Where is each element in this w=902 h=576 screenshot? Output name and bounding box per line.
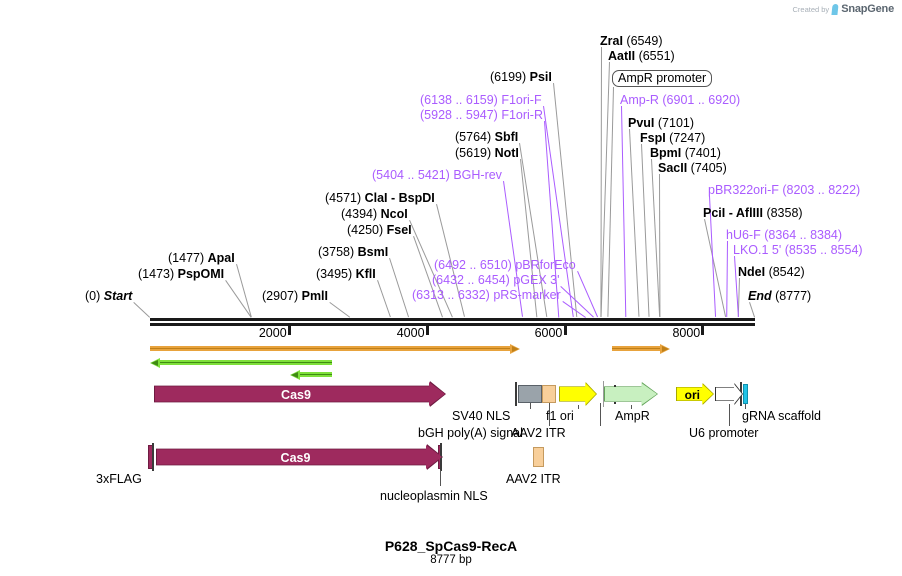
feature-ori-inline-label: ori — [677, 388, 708, 402]
ampr-promoter-feature-label[interactable]: AmpR promoter — [612, 70, 712, 87]
feature-callout-bgh-poly-a--signal: bGH poly(A) signal — [418, 426, 523, 440]
feature-callout-tick-f1-ori — [578, 405, 579, 409]
feature-aav2-itr[interactable] — [533, 447, 544, 467]
feature-callout-aav2-itr: AAV2 ITR — [511, 426, 566, 440]
feature-f1-ori[interactable] — [560, 383, 596, 405]
features-layer: Cas9oriCas9SV40 NLSbGH poly(A) signalf1 … — [0, 0, 902, 576]
feature-cas9[interactable]: Cas9 — [155, 382, 445, 406]
feature-bgh-poly-a--signal[interactable] — [542, 385, 556, 403]
page-title: P628_SpCas9-RecA — [0, 538, 902, 554]
feature-callout-u6-promoter: U6 promoter — [689, 426, 758, 440]
feature-divider-3xflag — [152, 443, 154, 471]
feature-callout-tick-aav2-itr — [600, 403, 601, 426]
feature-callout-tick-nucleoplasmin-nls — [440, 470, 441, 486]
feature-cas9-inline-label: Cas9 — [155, 388, 437, 402]
feature-callout-ampr: AmpR — [615, 409, 650, 423]
feature-callout-f1-ori: f1 ori — [546, 409, 574, 423]
feature-cas9[interactable]: Cas9 — [157, 445, 442, 469]
feature-grna-scaffold[interactable] — [743, 384, 748, 404]
feature-callout-tick-u6-promoter — [729, 404, 730, 426]
feature-callout-sv40-nls: SV40 NLS — [452, 409, 510, 423]
feature-sv40-nls[interactable] — [518, 385, 542, 403]
page-subtitle-length: 8777 bp — [0, 554, 902, 566]
feature-callout-nucleoplasmin-nls: nucleoplasmin NLS — [380, 489, 488, 503]
feature-callout-grna-scaffold: gRNA scaffold — [742, 409, 821, 423]
feature-callout-3xflag: 3xFLAG — [96, 472, 142, 486]
feature-callout-tick-grna-scaffold — [745, 404, 746, 409]
feature-cas9-inline-label: Cas9 — [157, 451, 434, 465]
feature-divider-ampr-left — [603, 381, 604, 407]
feature-divider-sv40-left — [515, 382, 517, 406]
feature-callout-tick-ampr — [631, 405, 632, 409]
feature-callout-aav2-itr: AAV2 ITR — [506, 472, 561, 486]
feature-callout-tick-sv40-nls — [530, 403, 531, 409]
feature-ampr[interactable] — [605, 383, 657, 405]
